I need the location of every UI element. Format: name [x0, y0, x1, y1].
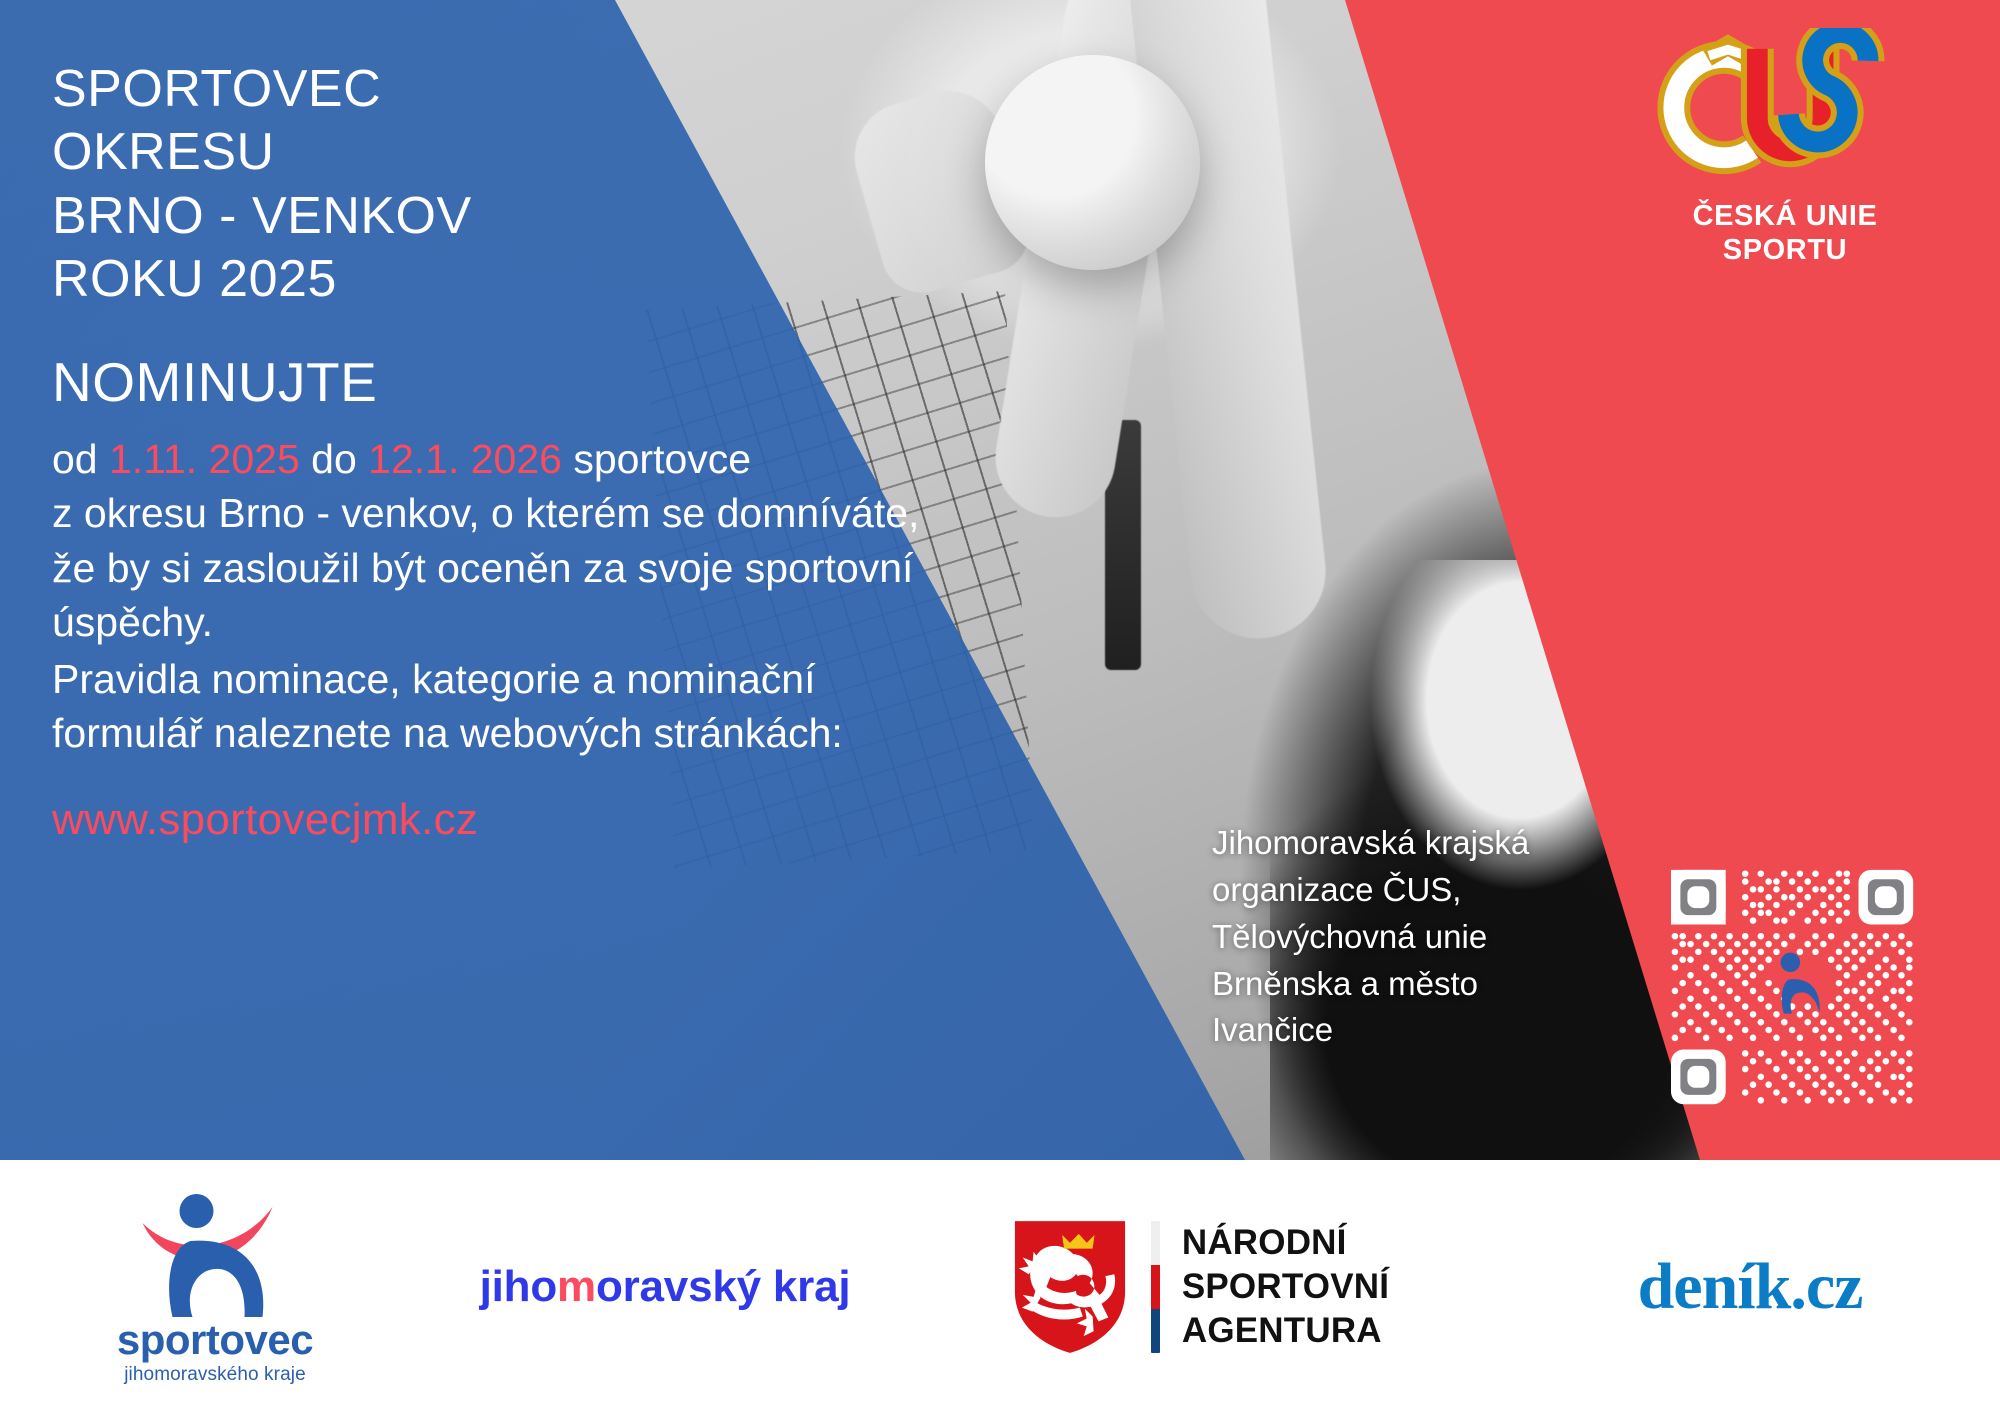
- denik-wordmark: deník.cz: [1638, 1249, 1863, 1325]
- sportovec-wordmark: sportovec: [117, 1319, 313, 1361]
- qr-code[interactable]: [1662, 862, 1930, 1112]
- left-copy-block: SPORTOVEC OKRESU BRNO - VENKOV ROKU 2025…: [52, 58, 932, 845]
- cta-between: do: [300, 436, 368, 482]
- cta-title: NOMINUJTE: [52, 350, 932, 414]
- cta-prefix: od: [52, 436, 109, 482]
- nsa-wordmark: NÁRODNÍ SPORTOVNÍ AGENTURA: [1182, 1221, 1389, 1353]
- cus-logo: ČESKÁ UNIE SPORTU: [1640, 28, 1930, 267]
- footer-sponsor-bar: sportovec jihomoravského kraje jihomorav…: [0, 1160, 2000, 1414]
- qr-code-icon[interactable]: [1662, 862, 1930, 1112]
- sportovec-figure-icon: [132, 1189, 297, 1317]
- jmk-part2: oravský kraj: [596, 1262, 850, 1311]
- cta-paragraph-2: Pravidla nominace, kategorie a nominační…: [52, 652, 932, 761]
- sportovec-subtitle: jihomoravského kraje: [124, 1364, 306, 1386]
- footer-logo-sportovec: sportovec jihomoravského kraje: [0, 1160, 430, 1414]
- footer-logo-narodni-sportovni-agentura: NÁRODNÍ SPORTOVNÍ AGENTURA: [900, 1160, 1500, 1414]
- footer-logo-denik-cz: deník.cz: [1500, 1160, 2000, 1414]
- czech-coat-of-arms-icon: [1011, 1217, 1129, 1357]
- jmk-highlight-m: m: [557, 1262, 596, 1311]
- cta-dates-line: od 1.11. 2025 do 12.1. 2026 sportovce: [52, 432, 932, 487]
- volleyball: [985, 55, 1200, 270]
- website-url[interactable]: www.sportovecjmk.cz: [52, 795, 932, 845]
- cta-suffix: sportovce: [562, 436, 751, 482]
- footer-logo-jihomoravsky-kraj: jihomoravský kraj: [430, 1160, 900, 1414]
- qr-center-logo-icon: [1768, 953, 1826, 1014]
- cta-paragraph: z okresu Brno - venkov, o kterém se domn…: [52, 486, 932, 650]
- cus-mark-icon: [1655, 28, 1915, 188]
- date-to: 12.1. 2026: [368, 436, 562, 482]
- jmk-part1: jiho: [480, 1262, 557, 1311]
- poster: SPORTOVEC OKRESU BRNO - VENKOV ROKU 2025…: [0, 0, 2000, 1414]
- cus-logo-name: ČESKÁ UNIE SPORTU: [1640, 199, 1930, 267]
- organizer-credit: Jihomoravská krajská organizace ČUS, Těl…: [1212, 820, 1642, 1054]
- page-title: SPORTOVEC OKRESU BRNO - VENKOV ROKU 2025: [52, 58, 932, 312]
- date-from: 1.11. 2025: [109, 436, 300, 482]
- czech-tricolor-bar: [1151, 1221, 1160, 1353]
